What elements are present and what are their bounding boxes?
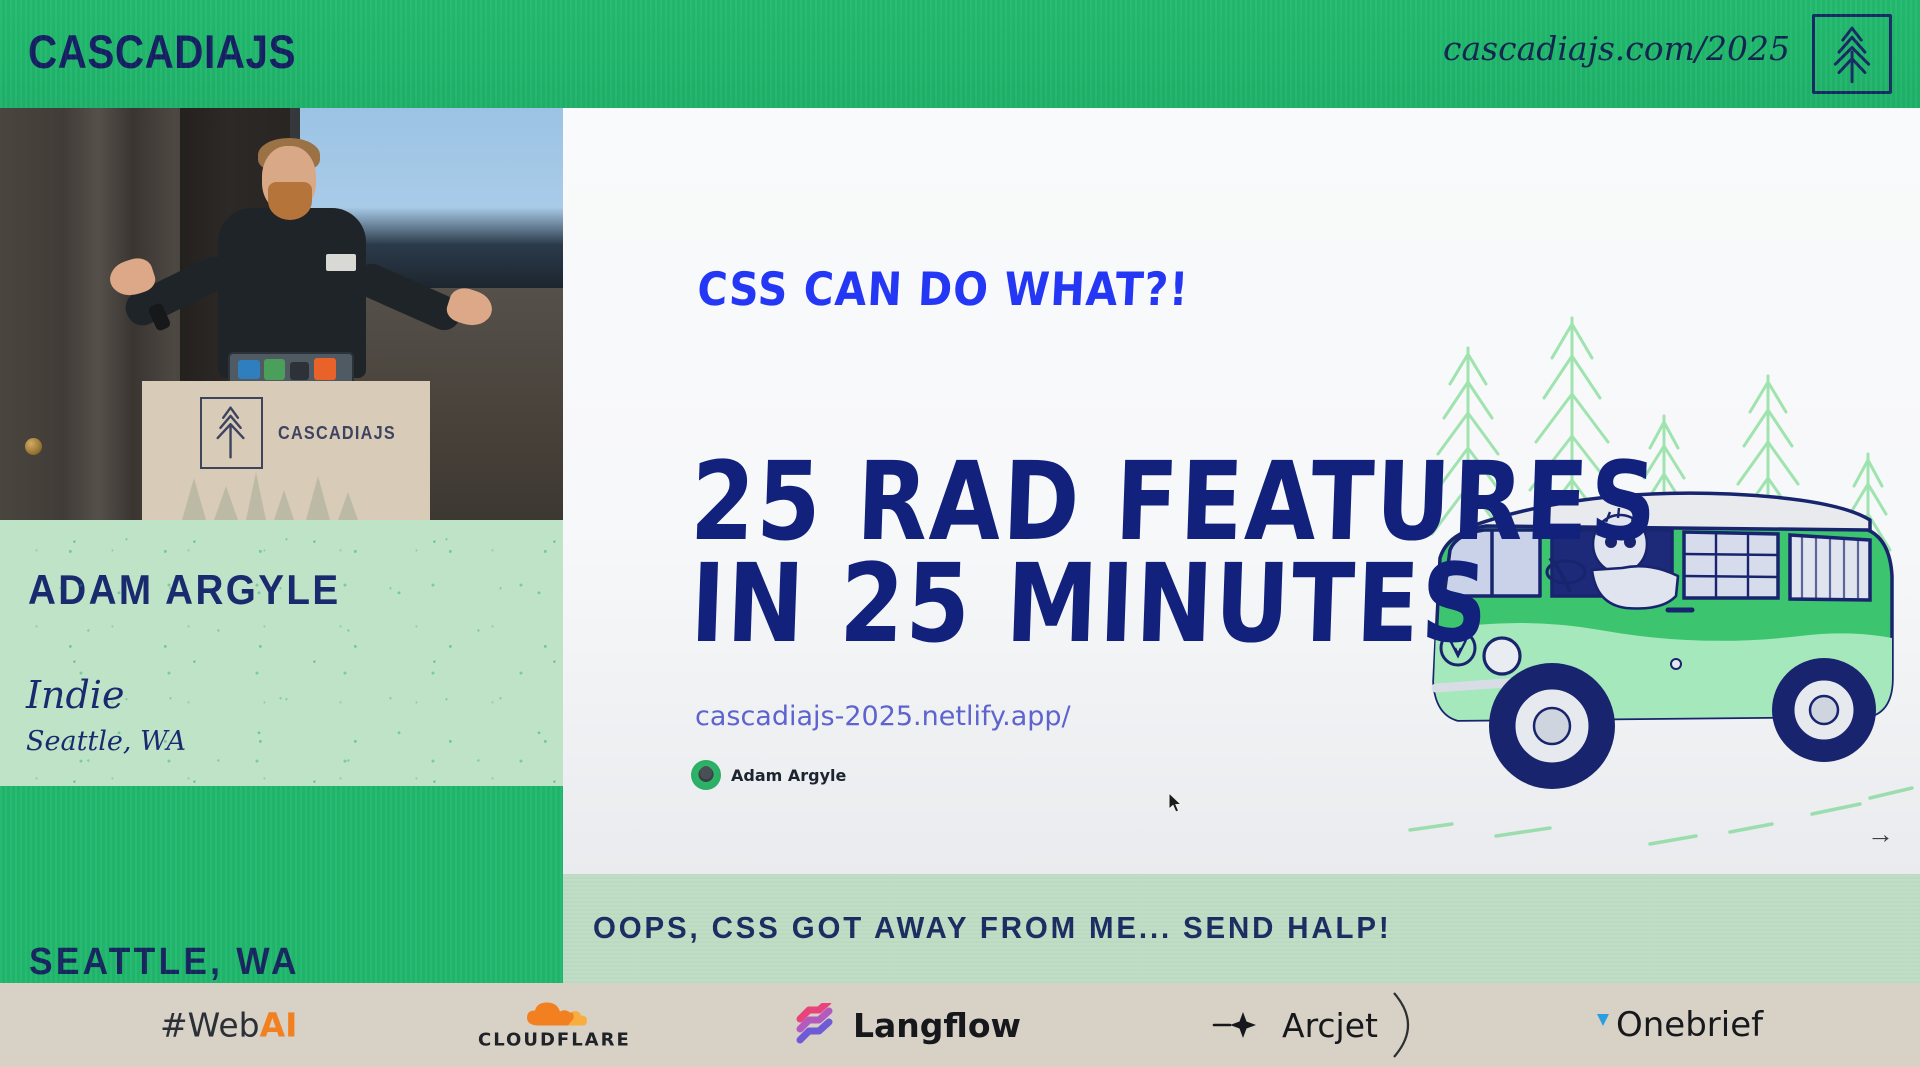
event-header-bar: CASCADIAJS cascadiajs.com/2025: [0, 0, 1920, 108]
slide-author-byline: Adam Argyle: [691, 760, 846, 790]
sponsor-arcjet-label: Arcjet: [1282, 1006, 1378, 1045]
sponsor-webai[interactable]: #WebAI: [160, 1006, 297, 1045]
slide-deck-url[interactable]: cascadiajs-2025.netlify.app/: [695, 701, 1071, 732]
left-column: CASCADIAJS ADAM ARGYLE Indie Seattle, WA…: [0, 108, 563, 983]
slide-title-line-2: IN 25 MINUTES: [689, 552, 1491, 655]
laptop-sticker: [238, 360, 260, 379]
sponsor-langflow[interactable]: Langflow: [795, 1003, 1021, 1047]
sponsor-onebrief-label: Onebrief: [1616, 1005, 1763, 1045]
laptop-sticker: [314, 358, 336, 380]
laptop-sticker: [264, 359, 285, 380]
podium-brand-label: CASCADIAJS: [278, 423, 396, 444]
onebrief-mark-icon: [1594, 1010, 1612, 1040]
sponsor-bar: #WebAI CLOUDFLARE Langflow: [0, 983, 1920, 1067]
door-knob: [25, 438, 42, 455]
event-website-url: cascadiajs.com/2025: [1443, 29, 1790, 68]
slide-kicker: CSS CAN DO WHAT?!: [696, 262, 1190, 316]
cloudflare-cloud-icon: [521, 1000, 587, 1028]
speaker-name: ADAM ARGYLE: [28, 566, 341, 614]
avatar: [691, 760, 721, 790]
presentation-slide[interactable]: CSS CAN DO WHAT?! 25 RAD FEATURES IN 25 …: [563, 108, 1920, 874]
speaker-organization: Indie: [26, 673, 124, 717]
speaker-video-feed[interactable]: CASCADIAJS: [0, 108, 563, 520]
sponsor-webai-prefix: #Web: [160, 1006, 260, 1045]
langflow-mark-icon: [795, 1003, 841, 1047]
podium-tree-pattern: [142, 468, 430, 520]
slide-author-name: Adam Argyle: [731, 766, 846, 785]
event-brand-title: CASCADIAJS: [28, 24, 296, 79]
speaker-laptop: [228, 352, 354, 384]
podium-tree-logo-icon: [200, 397, 263, 469]
laptop-sticker: [290, 362, 309, 380]
cascadia-tree-logo-icon: [1812, 14, 1892, 94]
presentation-stream-view: CASCADIAJS cascadiajs.com/2025: [0, 0, 1920, 1067]
arcjet-sparkle-icon: [1212, 1008, 1274, 1042]
slide-title-line-1: 25 RAD FEATURES: [689, 450, 1660, 553]
sponsor-cloudflare-label: CLOUDFLARE: [478, 1030, 631, 1051]
speaker-shirt-logo: [326, 254, 356, 271]
sponsor-langflow-label: Langflow: [853, 1006, 1021, 1045]
caption-text: OOPS, CSS GOT AWAY FROM ME... SEND HALP!: [593, 910, 1392, 946]
sponsor-arcjet[interactable]: Arcjet: [1212, 989, 1428, 1061]
speaker-location: Seattle, WA: [26, 726, 186, 757]
sponsor-webai-accent: AI: [260, 1006, 298, 1045]
next-slide-arrow-icon[interactable]: →: [1867, 821, 1894, 848]
conference-podium: CASCADIAJS: [142, 381, 430, 520]
live-caption-bar: OOPS, CSS GOT AWAY FROM ME... SEND HALP!: [563, 874, 1920, 983]
sponsor-onebrief[interactable]: Onebrief: [1594, 1005, 1763, 1045]
speaker-info-panel: ADAM ARGYLE Indie Seattle, WA: [0, 520, 563, 786]
sponsor-cloudflare[interactable]: CLOUDFLARE: [478, 1000, 631, 1051]
speaker-beard: [268, 182, 312, 220]
event-location: SEATTLE, WA: [29, 941, 300, 984]
arcjet-arc-icon: [1388, 989, 1428, 1061]
